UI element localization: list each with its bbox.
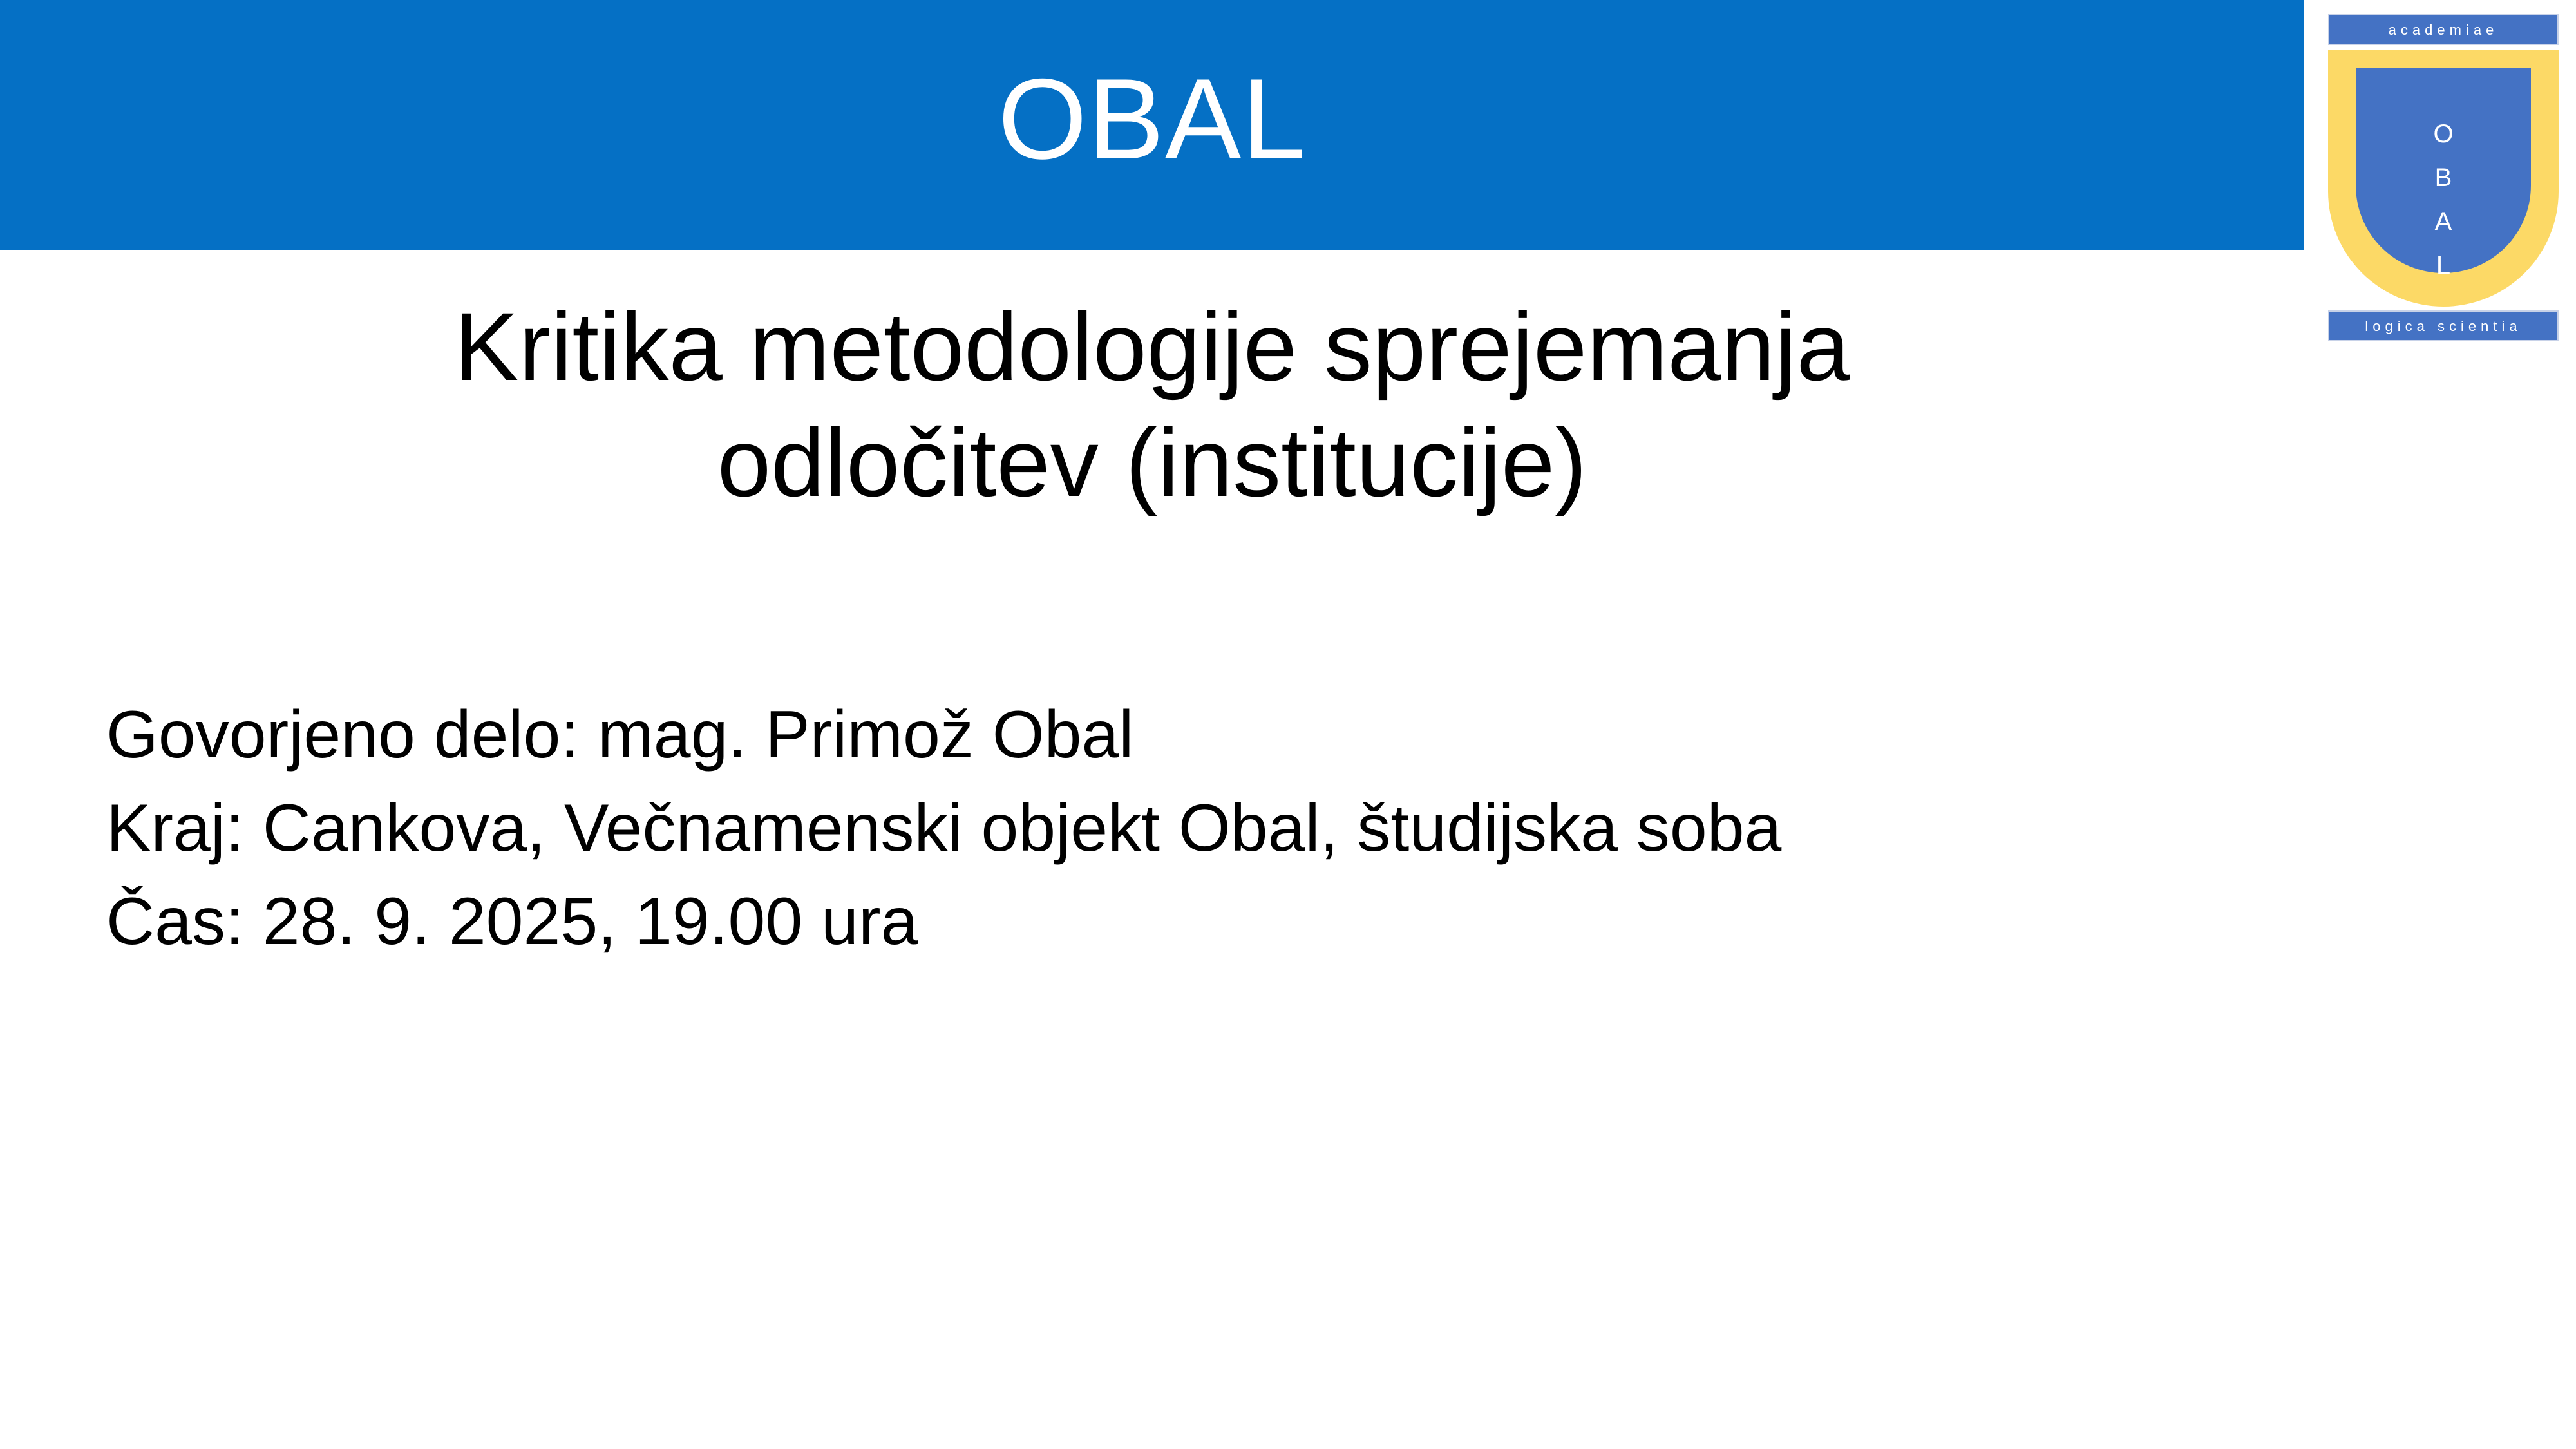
- body-line-time: Čas: 28. 9. 2025, 19.00 ura: [106, 881, 2077, 963]
- logo-letter-b: B: [2356, 156, 2531, 200]
- logo-letter-o: O: [2356, 112, 2531, 156]
- body-line-speaker: Govorjeno delo: mag. Primož Obal: [106, 694, 2077, 776]
- logo-top-band-label: academiae: [2328, 14, 2559, 45]
- page-title: OBAL: [998, 62, 1307, 188]
- logo-bottom-band-label: logica scientia: [2328, 310, 2559, 341]
- slide-body: Govorjeno delo: mag. Primož Obal Kraj: C…: [106, 694, 2077, 974]
- logo-letter-l: L: [2356, 243, 2531, 287]
- logo-letter-a: A: [2356, 200, 2531, 243]
- slide-title-line-2: odločitev (institucije): [0, 404, 2304, 520]
- body-line-location: Kraj: Cankova, Večnamenski objekt Obal, …: [106, 788, 2077, 869]
- header-banner: OBAL: [0, 0, 2304, 250]
- obal-logo: academiae O B A L logica scientia: [2328, 14, 2559, 341]
- logo-shield-icon: O B A L: [2328, 50, 2559, 307]
- logo-shield-inner-icon: O B A L: [2356, 68, 2531, 273]
- slide-title: Kritika metodologije sprejemanja odločit…: [0, 289, 2304, 520]
- slide-title-line-1: Kritika metodologije sprejemanja: [0, 289, 2304, 404]
- logo-letters: O B A L: [2356, 112, 2531, 287]
